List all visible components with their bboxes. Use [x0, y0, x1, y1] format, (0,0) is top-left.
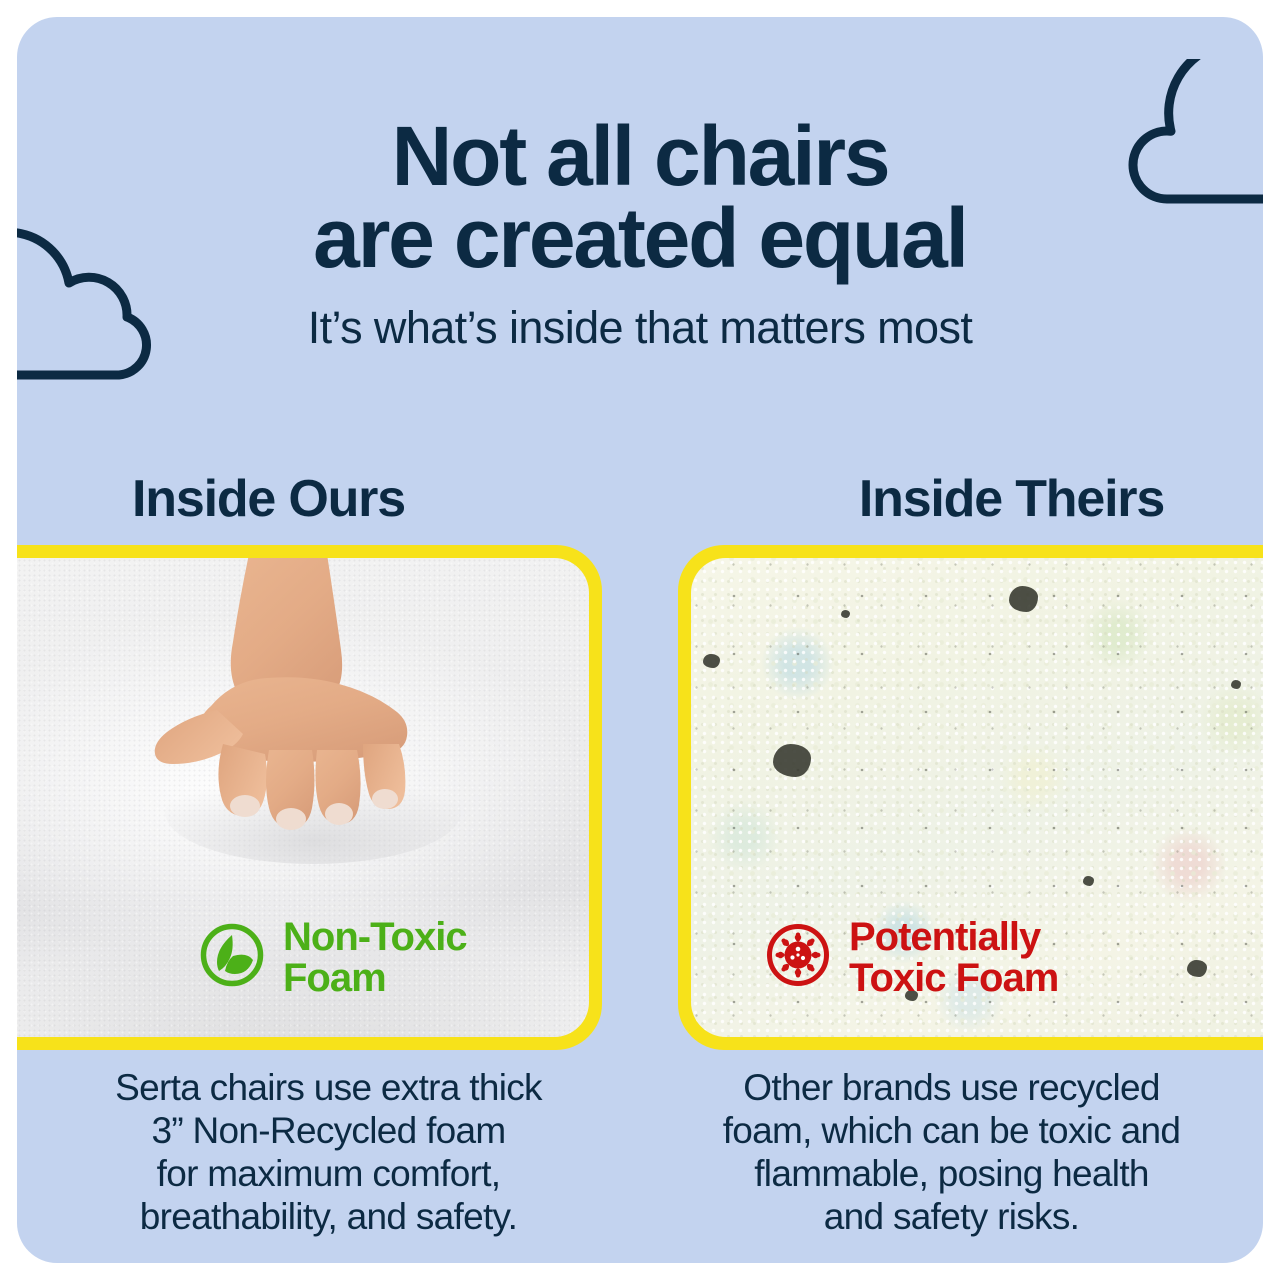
foam-speck — [703, 654, 720, 668]
header: Not all chairs are created equal It’s wh… — [17, 115, 1263, 354]
foam-speck — [773, 744, 811, 777]
column-heading-theirs: Inside Theirs — [650, 469, 1263, 529]
column-heading-ours: Inside Ours — [17, 469, 650, 529]
caption-theirs: Other brands use recycled foam, which ca… — [640, 1067, 1263, 1239]
badge-toxic-label: Potentially Toxic Foam — [849, 917, 1058, 999]
caption-ours: Serta chairs use extra thick 3” Non-Recy… — [17, 1067, 640, 1239]
badge-non-toxic-label: Non-Toxic Foam — [283, 917, 467, 999]
badge-toxic: Potentially Toxic Foam — [765, 917, 1058, 999]
infographic-card: Not all chairs are created equal It’s wh… — [17, 17, 1263, 1263]
infographic-canvas: Not all chairs are created equal It’s wh… — [0, 0, 1280, 1280]
badge-non-toxic: Non-Toxic Foam — [199, 917, 467, 999]
germ-in-circle-icon — [765, 922, 831, 993]
captions: Serta chairs use extra thick 3” Non-Recy… — [17, 1067, 1263, 1239]
foam-speck — [1009, 586, 1038, 612]
leaf-in-circle-icon — [199, 922, 265, 993]
column-headings: Inside Ours Inside Theirs — [17, 469, 1263, 529]
foam-speck — [1231, 680, 1241, 689]
foam-speck — [1187, 960, 1207, 977]
foam-speck — [841, 610, 850, 618]
page-title: Not all chairs are created equal — [17, 115, 1263, 280]
foam-speck — [1083, 876, 1094, 886]
page-subtitle: It’s what’s inside that matters most — [17, 302, 1263, 354]
hand-on-foam-image — [145, 558, 475, 884]
